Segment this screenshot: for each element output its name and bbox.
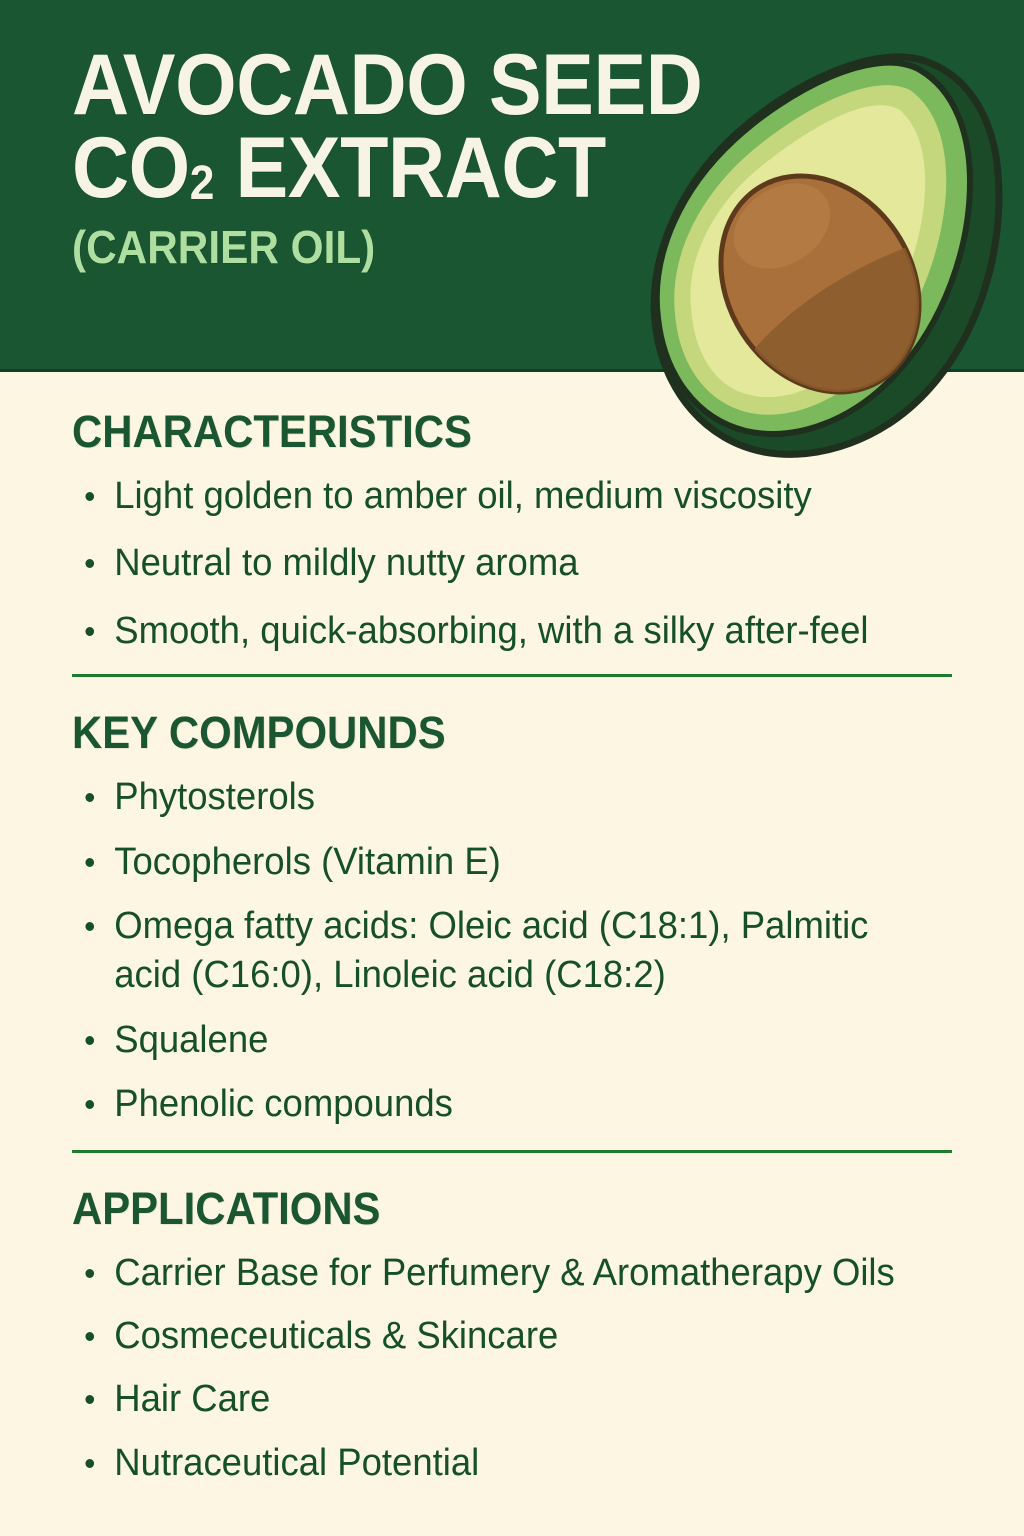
list-item: Phenolic compounds <box>72 1080 917 1129</box>
page-title-line-2: CO2 EXTRACT <box>72 127 702 210</box>
page-title-line-1: AVOCADO SEED <box>72 44 702 127</box>
header-text-block: AVOCADO SEED CO2 EXTRACT (CARRIER OIL) <box>72 44 757 271</box>
page-title-co: CO <box>72 120 190 216</box>
list-item: Squalene <box>72 1016 917 1065</box>
key-compounds-list: Phytosterols Tocopherols (Vitamin E) Ome… <box>72 773 952 1129</box>
list-item: Hair Care <box>72 1375 917 1424</box>
section-title-characteristics: CHARACTERISTICS <box>72 406 890 458</box>
page-title-extract: EXTRACT <box>214 120 606 216</box>
section-characteristics: CHARACTERISTICS Light golden to amber oi… <box>0 372 1024 656</box>
list-item: Phytosterols <box>72 773 917 822</box>
page-subtitle: (CARRIER OIL) <box>72 223 702 271</box>
section-key-compounds: KEY COMPOUNDS Phytosterols Tocopherols (… <box>0 677 1024 1129</box>
characteristics-list: Light golden to amber oil, medium viscos… <box>72 472 952 656</box>
section-title-key-compounds: KEY COMPOUNDS <box>72 707 890 759</box>
page-title-co-subscript: 2 <box>190 156 214 210</box>
list-item: Nutraceutical Potential <box>72 1439 917 1488</box>
content-panel: CHARACTERISTICS Light golden to amber oi… <box>0 372 1024 1502</box>
list-item: Carrier Base for Perfumery & Aromatherap… <box>72 1249 917 1298</box>
section-applications: APPLICATIONS Carrier Base for Perfumery … <box>0 1153 1024 1489</box>
list-item: Tocopherols (Vitamin E) <box>72 838 917 887</box>
section-title-applications: APPLICATIONS <box>72 1183 890 1235</box>
list-item: Omega fatty acids: Oleic acid (C18:1), P… <box>72 902 917 1001</box>
list-item: Cosmeceuticals & Skincare <box>72 1312 917 1361</box>
applications-list: Carrier Base for Perfumery & Aromatherap… <box>72 1249 952 1489</box>
list-item: Light golden to amber oil, medium viscos… <box>72 472 917 521</box>
list-item: Neutral to mildly nutty aroma <box>72 539 917 588</box>
list-item: Smooth, quick-absorbing, with a silky af… <box>72 607 917 656</box>
header-banner: AVOCADO SEED CO2 EXTRACT (CARRIER OIL) <box>0 0 1024 372</box>
